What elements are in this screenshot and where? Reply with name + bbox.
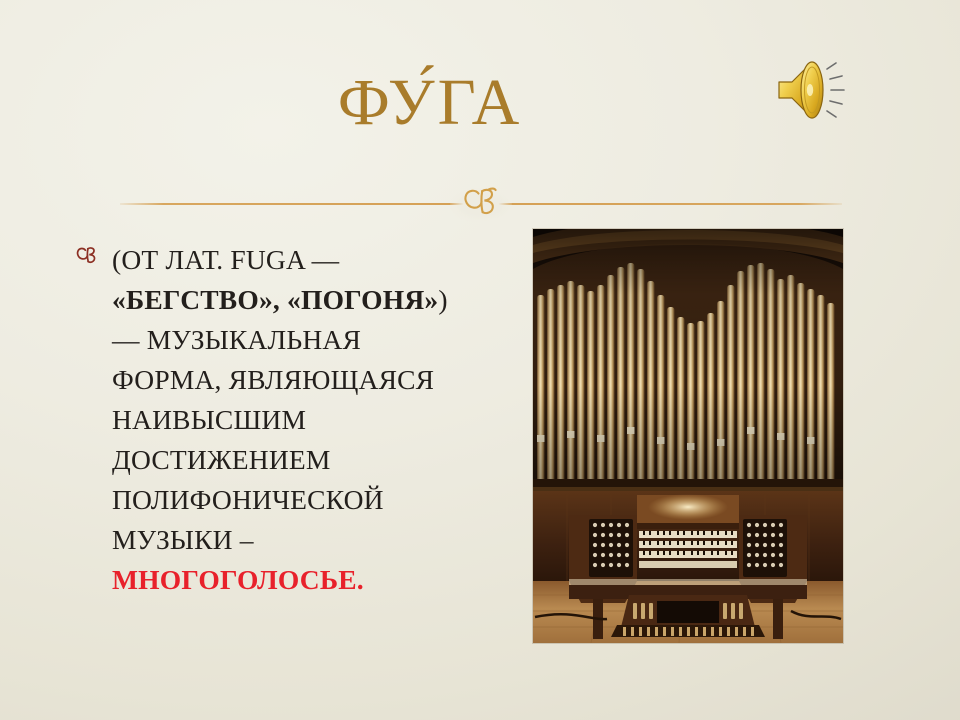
content-placeholder: (ОТ ЛАТ. FUGA — «БЕГСТВО», «ПОГОНЯ») — М…: [72, 240, 474, 600]
body-text-segment-1: (ОТ ЛАТ. FUGA —: [112, 244, 339, 275]
presentation-slide: ФУ́ГА: [0, 0, 960, 720]
organ-photo: [533, 229, 843, 643]
body-text-highlight: МНОГОГОЛОСЬЕ.: [112, 564, 364, 595]
bullet-list-item: (ОТ ЛАТ. FUGA — «БЕГСТВО», «ПОГОНЯ») — М…: [72, 240, 474, 600]
bullet-ornament-icon: [74, 243, 100, 273]
decorative-divider: [120, 188, 842, 222]
body-text-segment-3: ) — МУЗЫКАЛЬНАЯ ФОРМА, ЯВЛЯЮЩАЯСЯ НАИВЫС…: [112, 284, 448, 555]
divider-ornament-icon: [446, 185, 516, 225]
speaker-icon[interactable]: [772, 52, 850, 128]
page-title: ФУ́ГА: [120, 68, 740, 137]
body-text-segment-2: «БЕГСТВО», «ПОГОНЯ»: [112, 284, 438, 315]
